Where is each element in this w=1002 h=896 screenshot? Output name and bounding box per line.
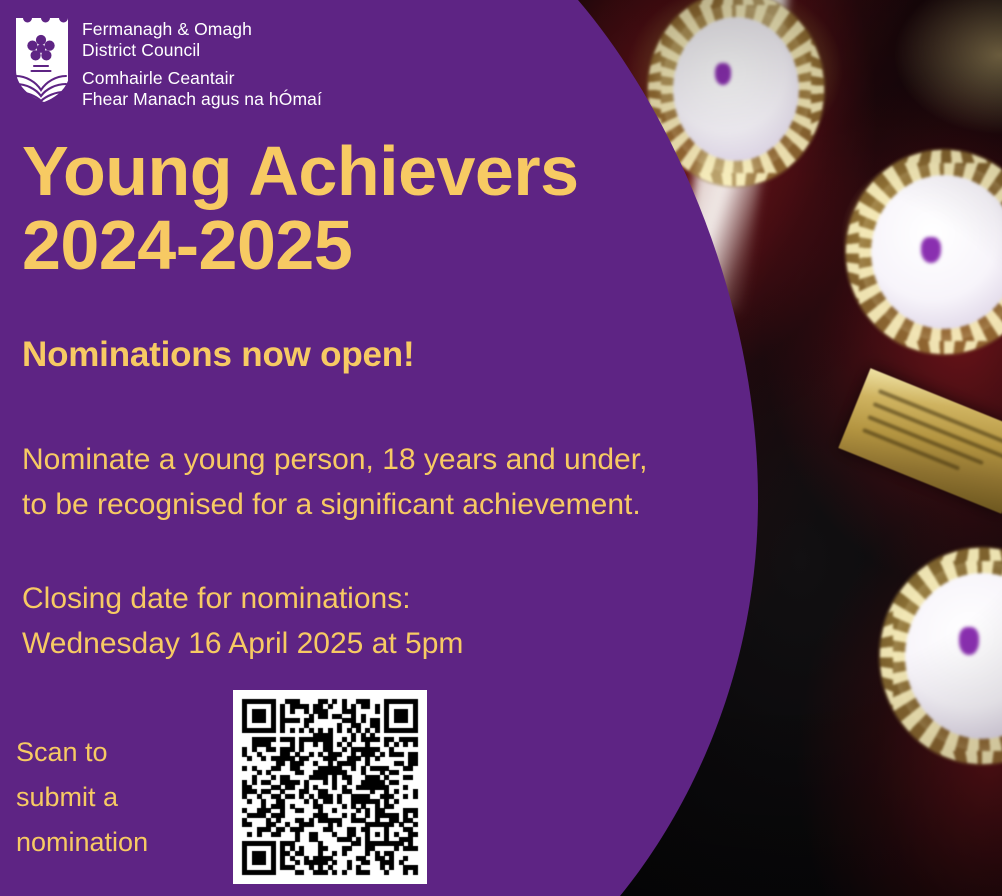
- scan-instruction: Scan to submit a nomination: [16, 730, 148, 865]
- body-line-2: to be recognised for a significant achie…: [22, 482, 647, 527]
- crest-emblem-icon: [959, 627, 979, 655]
- page-title: Young Achievers 2024-2025: [22, 134, 579, 282]
- closing-line-2: Wednesday 16 April 2025 at 5pm: [22, 621, 463, 666]
- qr-code-icon[interactable]: [233, 690, 427, 884]
- laurel-medallion-icon: [880, 548, 1002, 764]
- logo-line-3: Comhairle Ceantair: [82, 68, 322, 89]
- crest-emblem-icon: [715, 63, 731, 85]
- crest-emblem-icon: [921, 237, 941, 263]
- council-shield-crest-icon: [14, 16, 68, 104]
- body-copy: Nominate a young person, 18 years and un…: [22, 437, 647, 527]
- scan-line-2: submit a: [16, 775, 148, 820]
- logo-line-1: Fermanagh & Omagh: [82, 19, 322, 40]
- logo-line-2: District Council: [82, 40, 322, 61]
- subheading: Nominations now open!: [22, 335, 414, 375]
- poster: Fermanagh & Omagh District Council Comha…: [0, 0, 1002, 896]
- headline-line-1: Young Achievers: [22, 134, 579, 208]
- closing-date-block: Closing date for nominations: Wednesday …: [22, 576, 463, 666]
- body-line-1: Nominate a young person, 18 years and un…: [22, 437, 647, 482]
- laurel-medallion-icon: [846, 150, 1002, 354]
- closing-line-1: Closing date for nominations:: [22, 576, 463, 621]
- scan-line-1: Scan to: [16, 730, 148, 775]
- council-logo: Fermanagh & Omagh District Council Comha…: [14, 16, 322, 110]
- headline-line-2: 2024-2025: [22, 208, 579, 282]
- scan-line-3: nomination: [16, 820, 148, 865]
- engraved-nameplate: [838, 368, 1002, 514]
- logo-line-4: Fhear Manach agus na hÓmaí: [82, 89, 322, 110]
